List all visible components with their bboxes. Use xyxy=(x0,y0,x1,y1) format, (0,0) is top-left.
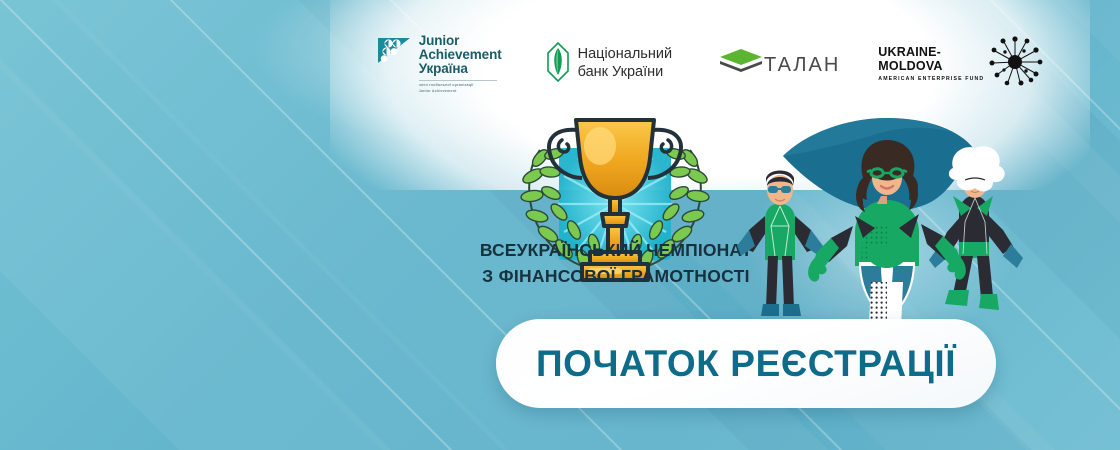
cta-label: ПОЧАТОК РЕЄСТРАЦІЇ xyxy=(536,343,956,385)
ja-line-2: Achievement xyxy=(419,48,502,62)
ja-divider xyxy=(419,80,497,81)
title-line-2: З ФІНАНСОВОЇ ГРАМОТНОСТІ xyxy=(466,264,766,290)
sponsor-logo-ukraine-moldova-aef: UKRAINE- MOLDOVA AMERICAN ENTERPRISE FUN… xyxy=(878,33,1044,96)
dandelion-burst-icon xyxy=(986,33,1044,96)
nbu-leaf-icon xyxy=(546,42,570,87)
talan-wordmark: ТАЛАН xyxy=(764,54,840,77)
title-line-1: ВСЕУКРАЇНСЬКИЙ ЧЕМПІОНАТ xyxy=(466,238,766,264)
umaef-line-2: MOLDOVA xyxy=(878,60,984,74)
page-title: ВСЕУКРАЇНСЬКИЙ ЧЕМПІОНАТ З ФІНАНСОВОЇ ГР… xyxy=(466,238,766,289)
nbu-line-1: Національний xyxy=(578,46,672,64)
sponsor-logo-strip: Junior Achievement Україна член глобальн… xyxy=(0,28,1120,100)
ja-line-3: Україна xyxy=(419,62,502,76)
nbu-line-2: банк України xyxy=(578,64,672,82)
umaef-line-1: UKRAINE- xyxy=(878,46,984,60)
registration-cta-button[interactable]: ПОЧАТОК РЕЄСТРАЦІЇ xyxy=(496,319,996,408)
sponsor-logo-national-bank-of-ukraine: Національний банк України xyxy=(546,42,672,87)
talan-chevron-icon xyxy=(718,47,764,82)
superhero-trio-illustration xyxy=(735,96,1035,341)
ja-triangle-logo-icon xyxy=(376,34,412,72)
ja-line-1: Junior xyxy=(419,34,502,48)
ja-fine-print-2: Junior Achievement xyxy=(419,89,502,94)
umaef-line-3: AMERICAN ENTERPRISE FUND xyxy=(878,76,984,82)
sponsor-logo-talan: ТАЛАН xyxy=(718,47,840,82)
sponsor-logo-junior-achievement-ukraine: Junior Achievement Україна член глобальн… xyxy=(376,34,502,94)
promo-banner: Junior Achievement Україна член глобальн… xyxy=(0,0,1120,450)
